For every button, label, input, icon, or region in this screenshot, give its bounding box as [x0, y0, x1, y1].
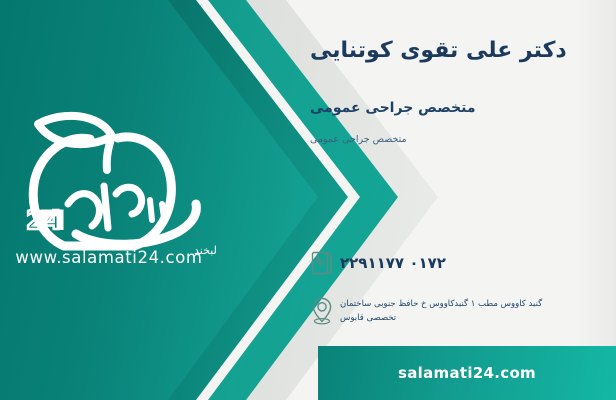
contact-row-phone[interactable]: ۰۱۷۲ ۲۲۹۱۱۷۷: [306, 244, 608, 282]
contact-details: ۰۱۷۲ ۲۲۹۱۱۷۷ گنبد کاووس مطب ۱ گنبدکاووس …: [306, 244, 608, 340]
address-line-1: گنبد کاووس مطب ۱ گنبدکاووس خ حافظ جنوبی …: [340, 297, 602, 311]
doctor-name: دکتر علی تقوی کوتنایی: [310, 38, 600, 63]
logo-badge-24: 24: [26, 206, 62, 236]
card-content-area: دکتر علی تقوی کوتنایی متخصص جراحی عمومی …: [300, 0, 616, 400]
clinic-address: گنبد کاووس مطب ۱ گنبدکاووس خ حافظ جنوبی …: [338, 297, 608, 325]
footer-website-text: salamati24.com: [398, 364, 536, 382]
doctor-specialty-secondary: متخصص جراحی عمومی: [310, 134, 600, 145]
phone-book-icon: [306, 244, 338, 282]
contact-row-address[interactable]: گنبد کاووس مطب ۱ گنبدکاووس خ حافظ جنوبی …: [306, 292, 608, 330]
logo-url-text: www.salamati24.com: [14, 248, 204, 267]
doctor-specialty-primary: متخصص جراحی عمومی: [310, 100, 600, 116]
address-line-2: تخصصی قابوس: [340, 311, 602, 325]
business-card: 24 به راحتی یک لبخند www.salamati24.com …: [0, 0, 616, 400]
phone-number: ۰۱۷۲ ۲۲۹۱۱۷۷: [338, 254, 608, 272]
footer-website-bar[interactable]: salamati24.com: [318, 346, 616, 400]
location-pin-icon: [306, 292, 338, 330]
